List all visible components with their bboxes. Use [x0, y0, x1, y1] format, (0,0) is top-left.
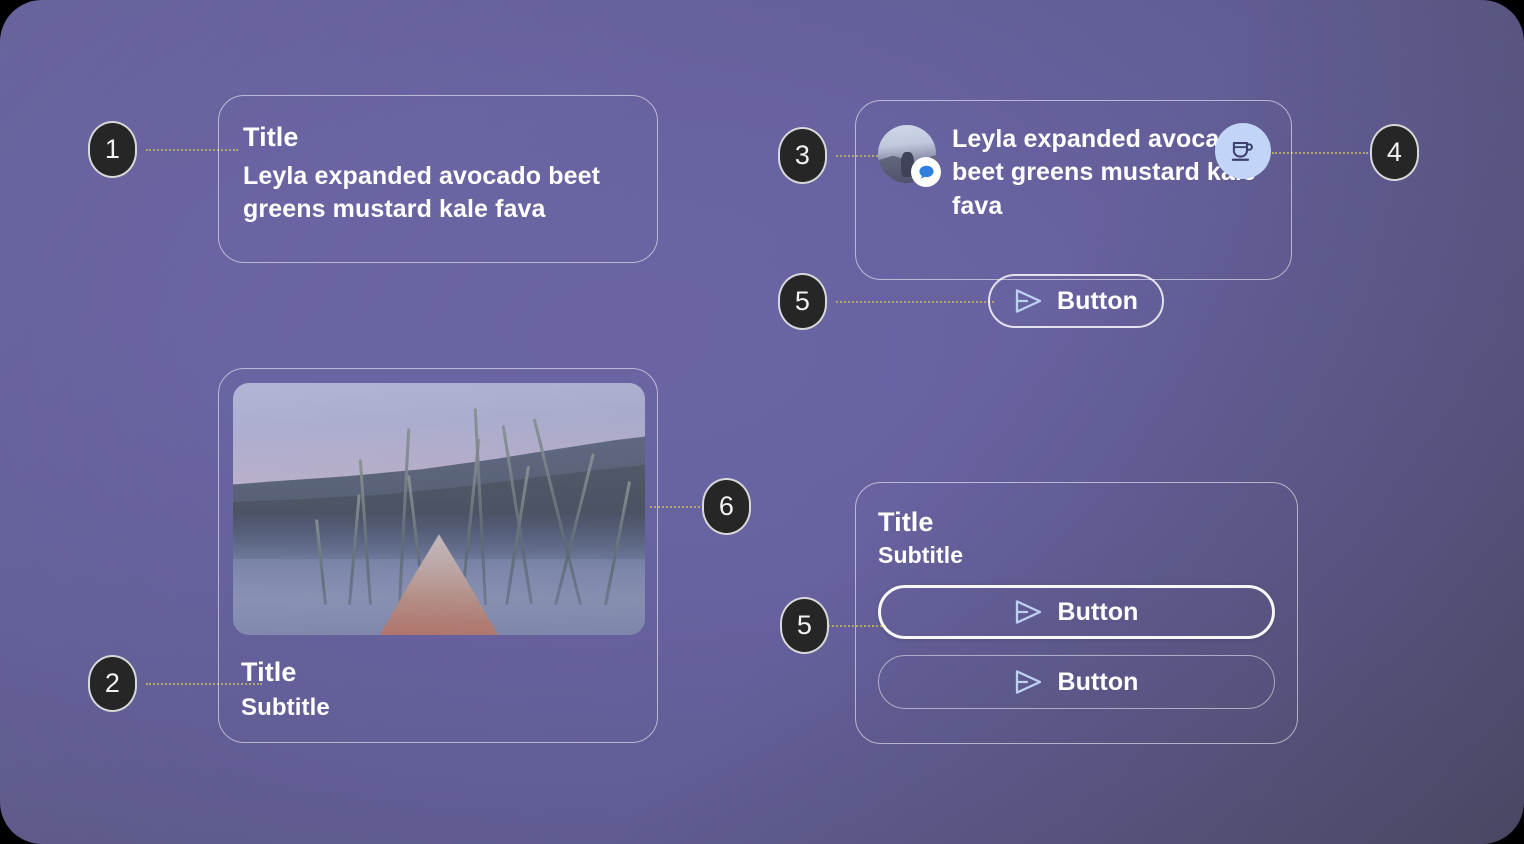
image-color-tint [233, 383, 645, 635]
trailing-round-icon[interactable] [1215, 123, 1271, 179]
marker-6[interactable]: 6 [702, 478, 751, 535]
connector-5a [836, 301, 994, 305]
actions-card[interactable]: Title Subtitle Button Button [855, 482, 1298, 744]
actions-card-subtitle: Subtitle [878, 542, 1275, 569]
media-card-subtitle: Subtitle [241, 694, 635, 722]
send-icon [1014, 288, 1044, 314]
marker-4[interactable]: 4 [1370, 124, 1419, 181]
marker-3[interactable]: 3 [778, 127, 827, 184]
text-card-body: Leyla expanded avocado beet greens musta… [243, 160, 631, 227]
marker-2[interactable]: 2 [88, 655, 137, 712]
focused-wide-button-label: Button [1057, 598, 1138, 627]
marker-1[interactable]: 1 [88, 121, 137, 178]
media-card-caption: Title Subtitle [233, 635, 643, 722]
media-thumbnail[interactable] [233, 383, 645, 635]
focused-wide-button[interactable]: Button [878, 585, 1275, 639]
media-card-title: Title [241, 657, 635, 688]
coffee-cup-icon [1228, 136, 1258, 166]
media-card[interactable]: Title Subtitle [218, 368, 658, 743]
standalone-button[interactable]: Button [988, 274, 1164, 328]
marker-5-standalone[interactable]: 5 [778, 273, 827, 330]
marker-5-wide[interactable]: 5 [780, 597, 829, 654]
secondary-wide-button-label: Button [1057, 668, 1138, 697]
standalone-button-label: Button [1057, 287, 1138, 316]
text-card[interactable]: Title Leyla expanded avocado beet greens… [218, 95, 658, 263]
avatar[interactable] [878, 125, 936, 183]
chat-bubble-icon [917, 163, 936, 182]
chat-bubble-badge [911, 157, 941, 187]
actions-card-title: Title [878, 507, 1275, 538]
annotation-canvas: 1 2 3 4 5 5 6 Title Leyla expanded avoca… [0, 0, 1524, 844]
avatar-card[interactable]: Leyla expanded avocado beet greens musta… [855, 100, 1292, 280]
text-card-title: Title [243, 122, 631, 153]
secondary-wide-button[interactable]: Button [878, 655, 1275, 709]
send-icon [1014, 669, 1044, 695]
send-icon [1014, 599, 1044, 625]
